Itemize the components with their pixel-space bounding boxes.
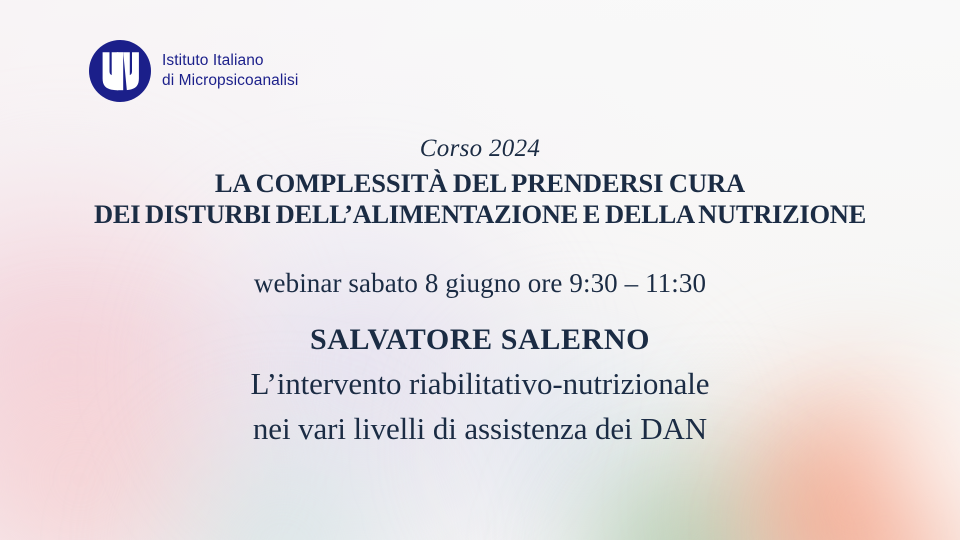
- institute-name-line2: di Micropsicoanalisi: [162, 71, 298, 91]
- course-label: Corso 2024: [0, 135, 960, 163]
- background-blob-lavender: [150, 190, 570, 540]
- psi-trident-circle-icon: [88, 39, 152, 103]
- talk-title-line-1: L’intervento riabilitativo-nutrizionale: [0, 366, 960, 402]
- event-datetime: webinar sabato 8 giugno ore 9:30 – 11:30: [0, 268, 960, 299]
- background-blob-green-corner: [560, 470, 810, 540]
- talk-title-line-2: nei vari livelli di assistenza dei DAN: [0, 411, 960, 447]
- course-title-line-2: DEI DISTURBI DELL’ALIMENTAZIONE E DELLA …: [0, 199, 960, 230]
- speaker-name: SALVATORE SALERNO: [0, 323, 960, 357]
- institute-logo-text: Istituto Italiano di Micropsicoanalisi: [162, 51, 298, 91]
- course-title-line-1: LA COMPLESSITÀ DEL PRENDERSI CURA: [0, 168, 960, 199]
- institute-logo: Istituto Italiano di Micropsicoanalisi: [88, 39, 298, 103]
- institute-name-line1: Istituto Italiano: [162, 52, 264, 69]
- webinar-announcement-slide: Istituto Italiano di Micropsicoanalisi C…: [0, 0, 960, 540]
